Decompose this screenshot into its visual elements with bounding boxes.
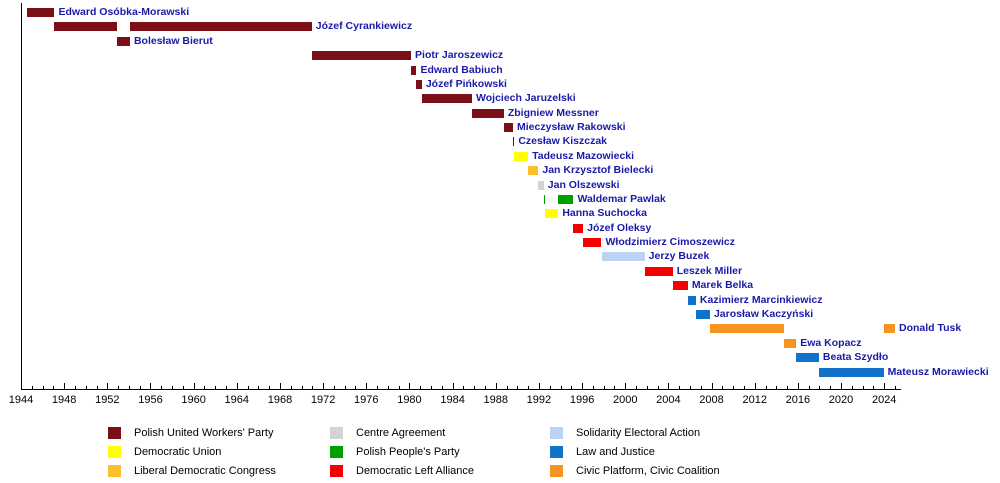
x-axis-tick <box>323 383 324 389</box>
x-axis-tick <box>755 383 756 389</box>
timeline-bar[interactable] <box>130 22 312 31</box>
timeline-bar[interactable] <box>117 37 130 46</box>
timeline-row[interactable]: Ewa Kopacz <box>0 339 1000 350</box>
x-axis-tick-label: 2016 <box>786 394 810 406</box>
x-axis-tick <box>366 383 367 389</box>
timeline-bar[interactable] <box>416 80 421 89</box>
legend-swatch-icon <box>108 465 121 477</box>
timeline-row[interactable]: Piotr Jaroszewicz <box>0 51 1000 62</box>
x-axis-tick <box>712 383 713 389</box>
x-axis-minor-tick <box>701 386 702 389</box>
x-axis-tick <box>237 383 238 389</box>
x-axis-minor-tick <box>258 386 259 389</box>
x-axis-minor-tick <box>97 386 98 389</box>
x-axis-minor-tick <box>355 386 356 389</box>
timeline-row[interactable]: Czesław Kiszczak <box>0 137 1000 148</box>
timeline-bar-label: Kazimierz Marcinkiewicz <box>700 295 823 306</box>
x-axis-tick <box>625 383 626 389</box>
x-axis-minor-tick <box>819 386 820 389</box>
x-axis-tick-label: 1980 <box>397 394 421 406</box>
x-axis-tick-label: 1976 <box>354 394 378 406</box>
x-axis-tick <box>280 383 281 389</box>
timeline-bar-label: Jerzy Buzek <box>649 251 710 262</box>
x-axis-tick-label: 2008 <box>699 394 723 406</box>
x-axis-minor-tick <box>485 386 486 389</box>
x-axis-minor-tick <box>809 386 810 389</box>
x-axis-tick <box>539 383 540 389</box>
x-axis-minor-tick <box>852 386 853 389</box>
timeline-row[interactable]: Józef Cyrankiewicz <box>0 22 1000 33</box>
x-axis-tick-label: 1944 <box>9 394 33 406</box>
x-axis-minor-tick <box>636 386 637 389</box>
x-axis-minor-tick <box>226 386 227 389</box>
x-axis-minor-tick <box>722 386 723 389</box>
timeline-bar-label: Beata Szydło <box>823 352 888 363</box>
timeline-row[interactable]: Józef Oleksy <box>0 224 1000 235</box>
timeline-bar-label: Józef Cyrankiewicz <box>316 21 412 32</box>
timeline-row[interactable]: Zbigniew Messner <box>0 109 1000 120</box>
timeline-row[interactable]: Jarosław Kaczyński <box>0 310 1000 321</box>
timeline-bar[interactable] <box>819 368 884 377</box>
x-axis-tick-label: 2024 <box>872 394 896 406</box>
x-axis-tick-label: 1964 <box>225 394 249 406</box>
x-axis-minor-tick <box>118 386 119 389</box>
legend-swatch-icon <box>550 446 563 458</box>
x-axis-tick-label: 1984 <box>440 394 464 406</box>
timeline-row[interactable]: Hanna Suchocka <box>0 209 1000 220</box>
timeline-bar-label: Edward Osóbka-Morawski <box>58 7 189 18</box>
x-axis-tick <box>150 383 151 389</box>
x-axis-minor-tick <box>43 386 44 389</box>
x-axis-minor-tick <box>215 386 216 389</box>
x-axis-minor-tick <box>679 386 680 389</box>
x-axis-minor-tick <box>593 386 594 389</box>
x-axis-minor-tick <box>658 386 659 389</box>
timeline-row[interactable]: Mieczysław Rakowski <box>0 123 1000 134</box>
x-axis-tick <box>884 383 885 389</box>
x-axis-tick-label: 1948 <box>52 394 76 406</box>
legend-swatch-icon <box>330 427 343 439</box>
x-axis-tick <box>64 383 65 389</box>
x-axis-minor-tick <box>302 386 303 389</box>
timeline-bar[interactable] <box>513 137 514 146</box>
timeline-row[interactable]: Kazimierz Marcinkiewicz <box>0 296 1000 307</box>
legend-label: Democratic Union <box>134 443 221 461</box>
timeline-bar[interactable] <box>558 195 573 204</box>
timeline-bar-label: Zbigniew Messner <box>508 108 599 119</box>
x-axis-minor-tick <box>75 386 76 389</box>
legend-label: Liberal Democratic Congress <box>134 462 276 480</box>
timeline-row[interactable]: Jan Olszewski <box>0 181 1000 192</box>
x-axis-tick <box>107 383 108 389</box>
timeline-bar-label: Józef Oleksy <box>587 223 651 234</box>
x-axis-tick-label: 1972 <box>311 394 335 406</box>
legend-label: Democratic Left Alliance <box>356 462 474 480</box>
timeline-row[interactable]: Leszek Miller <box>0 267 1000 278</box>
timeline-bar[interactable] <box>688 296 696 305</box>
timeline-row[interactable]: Edward Osóbka-Morawski <box>0 8 1000 19</box>
x-axis-tick-label: 1988 <box>484 394 508 406</box>
timeline-bar[interactable] <box>673 281 688 290</box>
timeline-bar[interactable] <box>312 51 411 60</box>
chart-legend: Polish United Workers' PartyDemocratic U… <box>0 424 1000 483</box>
timeline-bar-label: Ewa Kopacz <box>800 338 861 349</box>
timeline-bar-label: Bolesław Bierut <box>134 36 213 47</box>
x-axis-minor-tick <box>32 386 33 389</box>
x-axis-minor-tick <box>766 386 767 389</box>
x-axis-minor-tick <box>399 386 400 389</box>
x-axis-tick <box>582 383 583 389</box>
x-axis-minor-tick <box>312 386 313 389</box>
x-axis-minor-tick <box>431 386 432 389</box>
timeline-row[interactable]: Waldemar Pawlak <box>0 195 1000 206</box>
x-axis-line <box>21 389 901 390</box>
timeline-bar-label: Jan Olszewski <box>548 180 620 191</box>
timeline-row[interactable]: Tadeusz Mazowiecki <box>0 152 1000 163</box>
timeline-bar-label: Jarosław Kaczyński <box>714 309 813 320</box>
timeline-bar[interactable] <box>504 123 513 132</box>
x-axis-minor-tick <box>744 386 745 389</box>
x-axis-tick <box>841 383 842 389</box>
legend-label: Polish United Workers' Party <box>134 424 273 442</box>
x-axis-minor-tick <box>571 386 572 389</box>
timeline-bar-label: Włodzimierz Cimoszewicz <box>606 237 736 248</box>
x-axis-minor-tick <box>604 386 605 389</box>
x-axis-minor-tick <box>647 386 648 389</box>
timeline-bar-label: Edward Babiuch <box>420 65 502 76</box>
legend-swatch-icon <box>550 427 563 439</box>
timeline-bar[interactable] <box>472 109 504 118</box>
legend-swatch-icon <box>330 446 343 458</box>
timeline-bar[interactable] <box>27 8 54 17</box>
legend-label: Law and Justice <box>576 443 655 461</box>
gantt-timeline-chart: 1944194819521956196019641968197219761980… <box>0 0 1000 483</box>
x-axis-minor-tick <box>140 386 141 389</box>
x-axis-tick <box>194 383 195 389</box>
timeline-bar-label: Wojciech Jaruzelski <box>476 93 576 104</box>
x-axis-minor-tick <box>528 386 529 389</box>
timeline-bar[interactable] <box>583 238 601 247</box>
legend-label: Solidarity Electoral Action <box>576 424 700 442</box>
x-axis-tick <box>798 383 799 389</box>
legend-label: Centre Agreement <box>356 424 445 442</box>
x-axis-minor-tick <box>420 386 421 389</box>
timeline-bar-label: Mieczysław Rakowski <box>517 122 626 133</box>
timeline-bar[interactable] <box>710 324 784 333</box>
x-axis-minor-tick <box>248 386 249 389</box>
x-axis-minor-tick <box>172 386 173 389</box>
x-axis-tick-label: 1968 <box>268 394 292 406</box>
timeline-bar[interactable] <box>411 66 416 75</box>
x-axis-minor-tick <box>550 386 551 389</box>
timeline-bar-label: Hanna Suchocka <box>562 208 647 219</box>
x-axis-minor-tick <box>129 386 130 389</box>
timeline-bar-label: Donald Tusk <box>899 323 961 334</box>
x-axis-minor-tick <box>442 386 443 389</box>
x-axis-minor-tick <box>733 386 734 389</box>
x-axis-tick-label: 2020 <box>829 394 853 406</box>
timeline-bar[interactable] <box>573 224 583 233</box>
x-axis-minor-tick <box>690 386 691 389</box>
x-axis-tick-label: 2012 <box>742 394 766 406</box>
legend-swatch-icon <box>108 427 121 439</box>
timeline-bar[interactable] <box>645 267 673 276</box>
timeline-bar-label: Piotr Jaroszewicz <box>415 50 503 61</box>
x-axis-tick <box>668 383 669 389</box>
timeline-bar[interactable] <box>796 353 819 362</box>
x-axis-tick <box>453 383 454 389</box>
x-axis-minor-tick <box>561 386 562 389</box>
timeline-bar[interactable] <box>544 195 546 204</box>
timeline-bar[interactable] <box>884 324 895 333</box>
x-axis-minor-tick <box>161 386 162 389</box>
timeline-row[interactable]: Marek Belka <box>0 281 1000 292</box>
x-axis-minor-tick <box>183 386 184 389</box>
timeline-bar[interactable] <box>54 22 117 31</box>
legend-label: Civic Platform, Civic Coalition <box>576 462 720 480</box>
x-axis-minor-tick <box>86 386 87 389</box>
timeline-bar-label: Marek Belka <box>692 280 753 291</box>
timeline-bar[interactable] <box>514 152 528 161</box>
timeline-bar[interactable] <box>422 94 472 103</box>
legend-swatch-icon <box>330 465 343 477</box>
x-axis-minor-tick <box>873 386 874 389</box>
timeline-bar[interactable] <box>545 209 558 218</box>
x-axis-tick-label: 1996 <box>570 394 594 406</box>
timeline-bar-label: Czesław Kiszczak <box>518 136 607 147</box>
timeline-row[interactable]: Józef Pińkowski <box>0 80 1000 91</box>
timeline-bar-label: Józef Pińkowski <box>426 79 507 90</box>
x-axis-minor-tick <box>474 386 475 389</box>
x-axis-minor-tick <box>345 386 346 389</box>
x-axis-minor-tick <box>614 386 615 389</box>
timeline-bar-label: Leszek Miller <box>677 266 742 277</box>
x-axis-tick <box>409 383 410 389</box>
x-axis-tick <box>21 383 22 389</box>
x-axis-minor-tick <box>776 386 777 389</box>
x-axis-minor-tick <box>269 386 270 389</box>
timeline-row[interactable]: Wojciech Jaruzelski <box>0 94 1000 105</box>
timeline-row[interactable]: Jerzy Buzek <box>0 252 1000 263</box>
x-axis-minor-tick <box>517 386 518 389</box>
x-axis-minor-tick <box>463 386 464 389</box>
legend-swatch-icon <box>550 465 563 477</box>
x-axis-tick-label: 2004 <box>656 394 680 406</box>
legend-swatch-icon <box>108 446 121 458</box>
timeline-bar-label: Waldemar Pawlak <box>577 194 665 205</box>
x-axis-tick-label: 1952 <box>95 394 119 406</box>
timeline-bar[interactable] <box>696 310 710 319</box>
x-axis-minor-tick <box>863 386 864 389</box>
timeline-bar[interactable] <box>538 181 543 190</box>
timeline-bar[interactable] <box>784 339 796 348</box>
x-axis-minor-tick <box>53 386 54 389</box>
x-axis-minor-tick <box>204 386 205 389</box>
timeline-row[interactable]: Jan Krzysztof Bielecki <box>0 166 1000 177</box>
timeline-row[interactable]: Donald Tusk <box>0 324 1000 335</box>
x-axis-tick-label: 1960 <box>181 394 205 406</box>
x-axis-minor-tick <box>291 386 292 389</box>
timeline-bar-label: Jan Krzysztof Bielecki <box>542 165 653 176</box>
x-axis-minor-tick <box>895 386 896 389</box>
x-axis-minor-tick <box>830 386 831 389</box>
x-axis-tick <box>496 383 497 389</box>
timeline-bar[interactable] <box>602 252 645 261</box>
x-axis-minor-tick <box>388 386 389 389</box>
x-axis-minor-tick <box>787 386 788 389</box>
timeline-bar[interactable] <box>528 166 538 175</box>
plot-area: 1944194819521956196019641968197219761980… <box>0 0 1000 392</box>
x-axis-minor-tick <box>507 386 508 389</box>
timeline-row[interactable]: Włodzimierz Cimoszewicz <box>0 238 1000 249</box>
timeline-bar-label: Mateusz Morawiecki <box>888 367 989 378</box>
timeline-row[interactable]: Edward Babiuch <box>0 66 1000 77</box>
x-axis-tick-label: 2000 <box>613 394 637 406</box>
timeline-row[interactable]: Mateusz Morawiecki <box>0 368 1000 379</box>
x-axis-tick-label: 1992 <box>527 394 551 406</box>
timeline-bar-label: Tadeusz Mazowiecki <box>532 151 634 162</box>
legend-label: Polish People's Party <box>356 443 460 461</box>
timeline-row[interactable]: Beata Szydło <box>0 353 1000 364</box>
timeline-row[interactable]: Bolesław Bierut <box>0 37 1000 48</box>
x-axis-tick-label: 1956 <box>138 394 162 406</box>
x-axis-minor-tick <box>334 386 335 389</box>
x-axis-minor-tick <box>377 386 378 389</box>
